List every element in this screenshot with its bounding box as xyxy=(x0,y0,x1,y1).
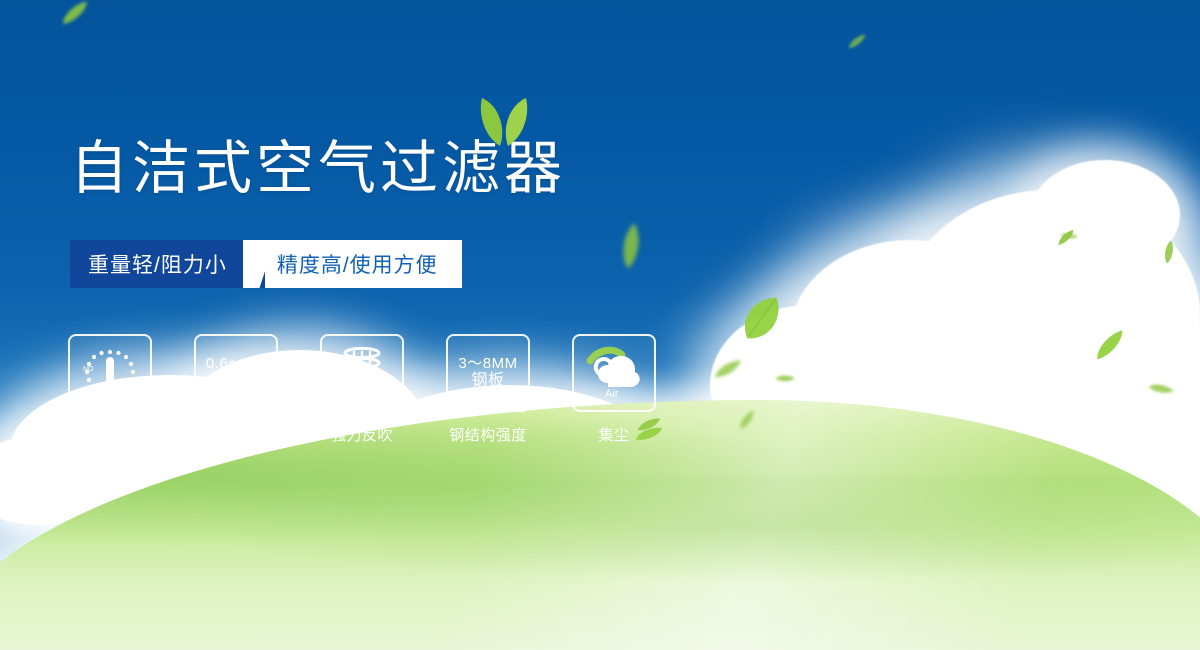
feature-label: 强力反吹 xyxy=(331,424,393,445)
control-dial-icon: NO OFF xyxy=(68,334,152,412)
feature-line1: 0.6～0.8 xyxy=(206,356,266,373)
subtitle-left: 重量轻/阻力小 xyxy=(70,240,243,288)
banner-content: 自洁式空气过滤器 重量轻/阻力小 精度高/使用方便 xyxy=(0,0,1200,650)
promo-banner: 自洁式空气过滤器 重量轻/阻力小 精度高/使用方便 xyxy=(0,0,1200,650)
feature-item: 3～8MM 钢板 钢结构强度 xyxy=(448,334,528,445)
sprout-leaves-icon xyxy=(470,92,540,148)
feature-label: 控制仪 xyxy=(87,424,134,445)
subtitle-divider xyxy=(243,240,265,288)
feature-line2: MPA xyxy=(220,373,253,390)
subtitle-right: 精度高/使用方便 xyxy=(265,240,462,288)
feature-item: 0.6～0.8 MPA 二级过滤 xyxy=(196,334,276,445)
filter-cartridge-icon xyxy=(320,334,404,412)
feature-line2: 钢板 xyxy=(471,372,504,390)
pressure-text-icon: 0.6～0.8 MPA xyxy=(194,334,278,412)
feature-item: NO OFF 控制仪 xyxy=(70,334,150,445)
feature-line1: 3～8MM xyxy=(458,356,517,373)
feature-label: 二级过滤 xyxy=(205,424,267,445)
air-cloud-icon: Air xyxy=(572,334,656,412)
title-block: 自洁式空气过滤器 xyxy=(70,140,566,198)
svg-text:NO: NO xyxy=(83,366,94,373)
svg-text:OFF: OFF xyxy=(117,391,131,398)
feature-item: 强力反吹 xyxy=(322,334,402,445)
feature-label: 集尘 xyxy=(598,424,629,445)
feature-list: NO OFF 控制仪 0.6～0.8 MPA 二级过滤 xyxy=(70,334,654,445)
feature-item: Air 集尘 xyxy=(574,334,654,445)
air-label: Air xyxy=(605,388,619,400)
subtitle-bar: 重量轻/阻力小 精度高/使用方便 xyxy=(70,240,462,288)
steel-plate-text-icon: 3～8MM 钢板 xyxy=(446,334,530,412)
page-title: 自洁式空气过滤器 xyxy=(70,140,566,198)
feature-label: 钢结构强度 xyxy=(449,424,527,445)
